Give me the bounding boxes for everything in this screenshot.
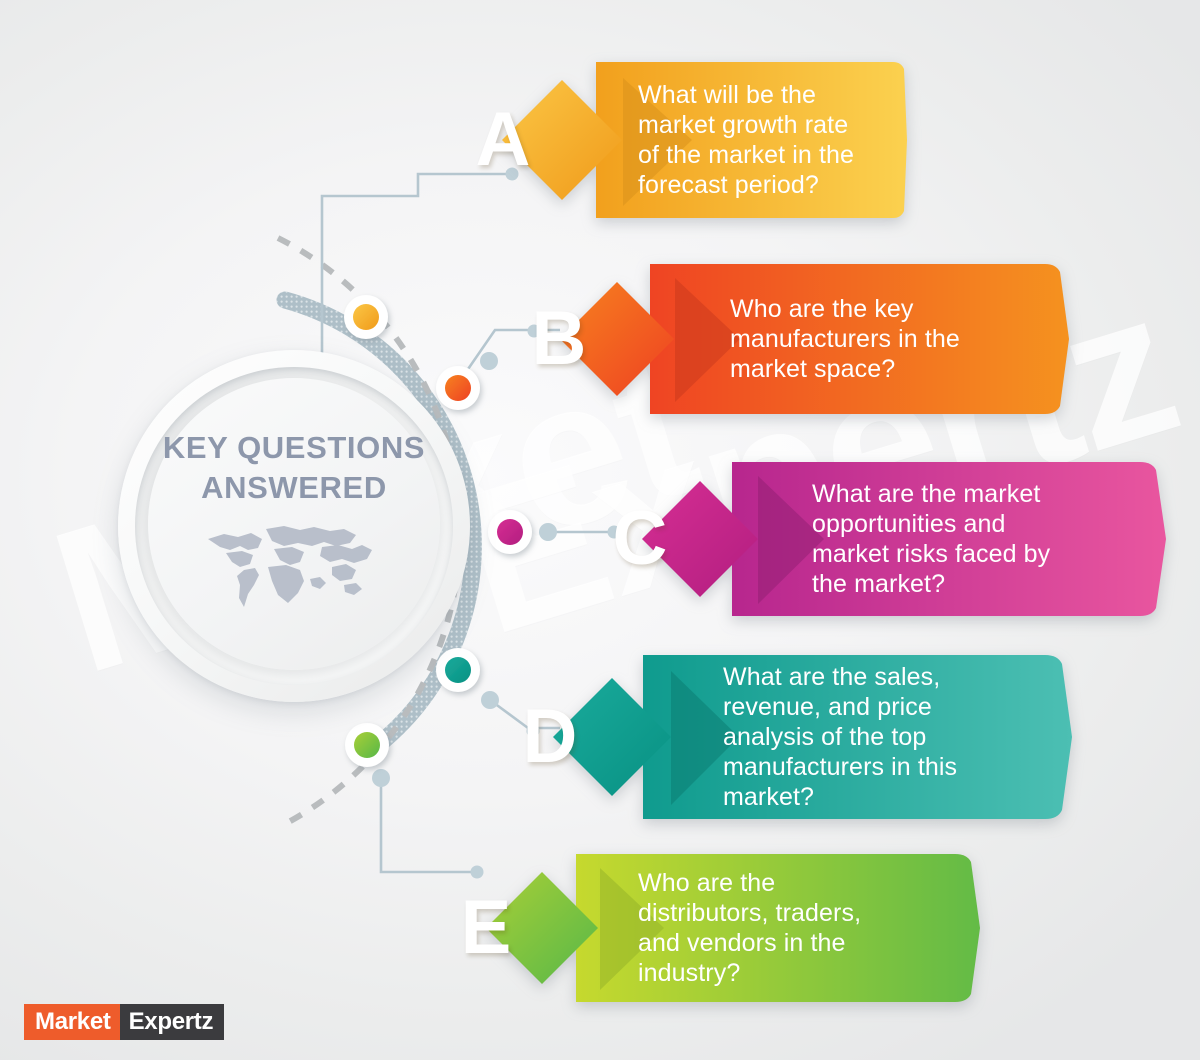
logo-market: Market xyxy=(24,1004,120,1040)
badge-letter-e: E xyxy=(461,890,512,966)
question-text-b: Who are the key manufacturers in the mar… xyxy=(730,294,1030,384)
question-item-e[interactable]: E Who are the distributors, traders, and… xyxy=(466,848,981,1008)
badge-letter-c: C xyxy=(613,501,668,577)
center-circle: KEY QUESTIONS ANSWERED xyxy=(118,350,470,702)
infographic-canvas: Market Expertz xyxy=(0,0,1200,1060)
logo-expertz: Expertz xyxy=(120,1004,225,1040)
badge-a: A xyxy=(418,56,588,224)
question-item-d[interactable]: D What are the sales, revenue, and price… xyxy=(533,649,1073,824)
question-item-c[interactable]: C What are the market opportunities and … xyxy=(622,456,1167,622)
center-circle-ring: KEY QUESTIONS ANSWERED xyxy=(135,367,453,685)
badge-b: B xyxy=(474,258,644,420)
question-item-a[interactable]: A What will be the market growth rate of… xyxy=(478,56,908,224)
question-text-e: Who are the distributors, traders, and v… xyxy=(638,868,913,988)
question-text-a: What will be the market growth rate of t… xyxy=(638,80,888,200)
world-map-icon xyxy=(204,523,384,615)
badge-letter-b: B xyxy=(532,301,587,377)
badge-letter-a: A xyxy=(476,102,531,178)
badge-d: D xyxy=(465,649,635,824)
page-title: KEY QUESTIONS ANSWERED xyxy=(148,428,440,507)
question-text-d: What are the sales, revenue, and price a… xyxy=(723,662,1028,812)
question-item-b[interactable]: B Who are the key manufacturers in the m… xyxy=(540,258,1070,420)
center-circle-face: KEY QUESTIONS ANSWERED xyxy=(148,378,440,670)
badge-letter-d: D xyxy=(523,699,578,775)
question-text-c: What are the market opportunities and ma… xyxy=(812,479,1112,599)
badge-c: C xyxy=(555,456,725,622)
brand-logo[interactable]: Market Expertz xyxy=(24,1004,224,1040)
badge-e: E xyxy=(401,848,571,1008)
